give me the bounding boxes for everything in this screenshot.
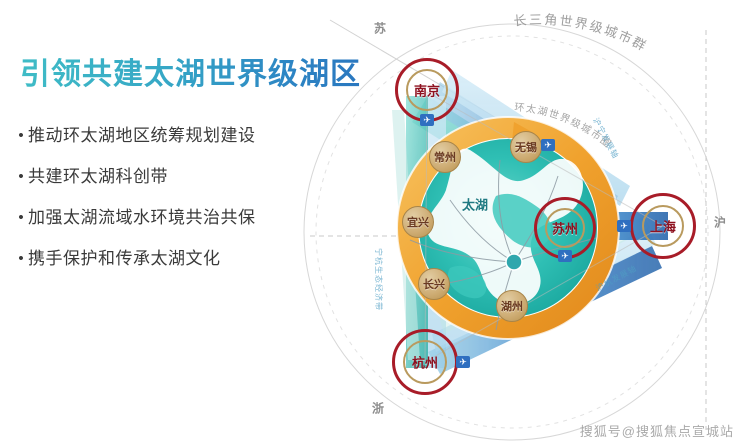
city-label: 无锡: [510, 131, 542, 163]
city-label: 宜兴: [402, 206, 434, 238]
bullet-text: 共建环太湖科创带: [28, 165, 168, 189]
airport-icon-hangzhou: ✈: [456, 356, 470, 368]
bullet-text: 加强太湖流域水环境共治共保: [28, 206, 256, 230]
bullet-dot-icon: •: [14, 206, 28, 230]
city-node-shanghai[interactable]: 上海: [650, 217, 676, 236]
city-label: 苏州: [552, 219, 578, 238]
city-node-suzhou[interactable]: 苏州: [552, 219, 578, 238]
bullet-text: 携手保护和传承太湖文化: [28, 247, 221, 271]
taihu-region-map: 长三角世界级城市群 环太湖世界级城市圈 太湖 苏 沪 浙 宁杭生态经济带 沪宁发…: [300, 0, 740, 448]
airport-icon-nanjing: ✈: [420, 114, 434, 126]
city-node-yixing[interactable]: 宜兴: [402, 206, 434, 238]
city-node-changxing[interactable]: 长兴: [418, 268, 450, 300]
corridor-label-ninghang: 宁杭生态经济带: [373, 248, 384, 311]
city-node-hangzhou[interactable]: 杭州: [412, 353, 438, 372]
city-node-huzhou[interactable]: 湖州: [496, 290, 528, 322]
province-label-jiangsu: 苏: [374, 20, 386, 37]
city-label: 常州: [429, 141, 461, 173]
watermark: 搜狐号@搜狐焦点宣城站: [580, 421, 734, 440]
province-label-zhejiang: 浙: [372, 400, 384, 417]
city-label: 长兴: [418, 268, 450, 300]
bullet-dot-icon: •: [14, 165, 28, 189]
slide-root: 引领共建太湖世界级湖区 • 推动环太湖地区统筹规划建设 • 共建环太湖科创带 •…: [0, 0, 740, 448]
airport-icon-wuxi: ✈: [541, 139, 555, 151]
bullet-dot-icon: •: [14, 247, 28, 271]
city-label: 湖州: [496, 290, 528, 322]
lake-label: 太湖: [462, 195, 488, 214]
city-node-nanjing[interactable]: 南京: [414, 81, 440, 100]
province-label-shanghai: 沪: [714, 214, 726, 231]
airport-icon-shanghai: ✈: [617, 220, 631, 232]
city-label: 杭州: [412, 353, 438, 372]
airport-icon-suzhou: ✈: [558, 250, 572, 262]
city-node-changzhou[interactable]: 常州: [429, 141, 461, 173]
city-label: 上海: [650, 217, 676, 236]
bullet-text: 推动环太湖地区统筹规划建设: [28, 124, 256, 148]
bullet-dot-icon: •: [14, 124, 28, 148]
city-node-wuxi[interactable]: 无锡: [510, 131, 542, 163]
city-label: 南京: [414, 81, 440, 100]
